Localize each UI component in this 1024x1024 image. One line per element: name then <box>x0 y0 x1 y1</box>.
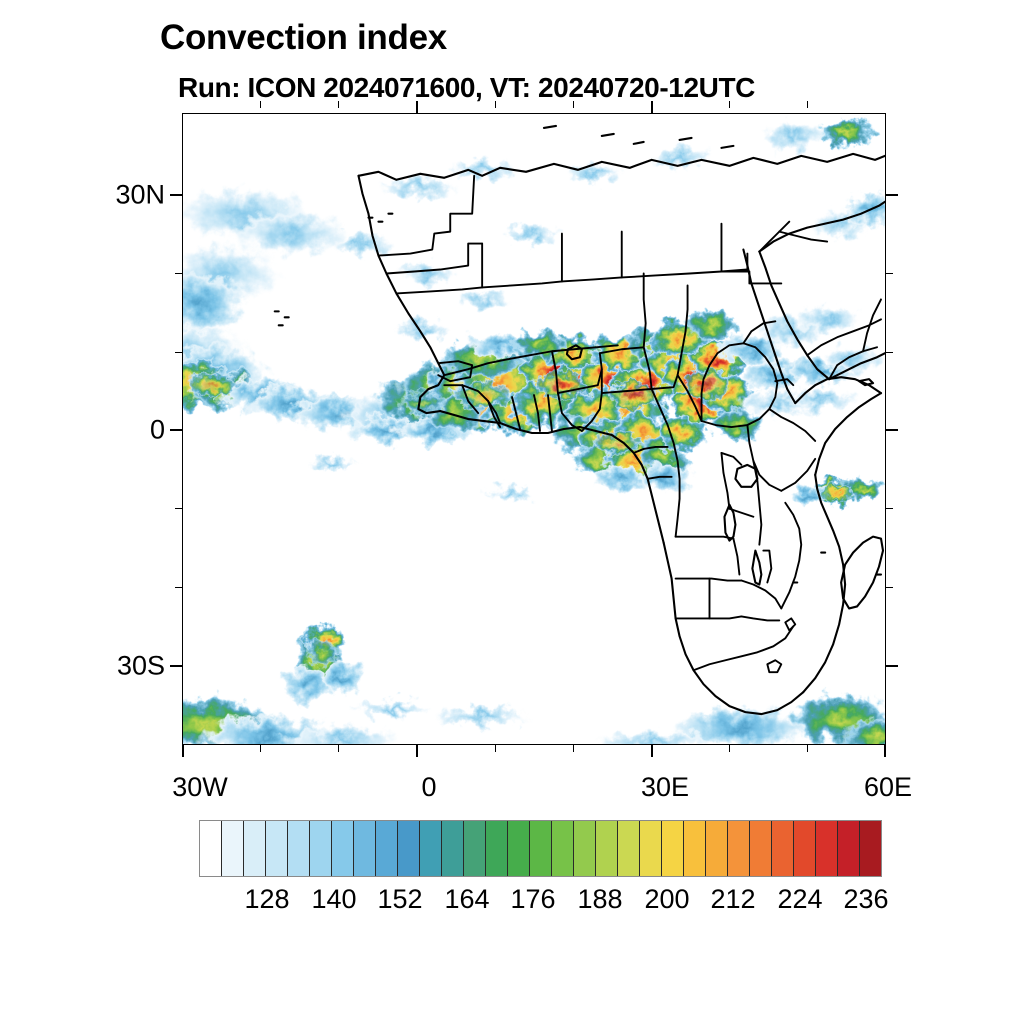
x-tick-minor-10e <box>495 745 496 752</box>
x-tick-minor-50e <box>807 745 808 752</box>
x-tick-major-0 <box>416 745 418 757</box>
colorbar-swatch <box>486 821 508 876</box>
colorbar-swatch <box>332 821 354 876</box>
x-axis-label-30e: 30E <box>641 772 689 803</box>
colorbar-swatch <box>266 821 288 876</box>
colorbar-swatch <box>288 821 310 876</box>
colorbar-label-176: 176 <box>510 884 555 915</box>
colorbar-swatch <box>794 821 816 876</box>
x-tick-minor-20w <box>260 745 261 752</box>
x-tick-major-30w <box>182 745 184 757</box>
colorbar-swatch <box>838 821 860 876</box>
colorbar-swatch <box>684 821 706 876</box>
colorbar-swatch <box>398 821 420 876</box>
x-tick-minor-40e <box>729 745 730 752</box>
x-tick-top-20w <box>260 101 261 108</box>
colorbar-swatch <box>464 821 486 876</box>
y-tick-right-10n <box>886 352 893 353</box>
y-axis-label-0: 0 <box>60 415 165 446</box>
y-tick-minor-20n <box>175 273 182 274</box>
x-axis-label-30w: 30W <box>172 772 228 803</box>
colorbar-label-212: 212 <box>710 884 755 915</box>
y-tick-minor-10n <box>175 352 182 353</box>
x-tick-top-10w <box>338 101 339 108</box>
y-tick-major-30s <box>170 665 182 667</box>
colorbar-swatch <box>662 821 684 876</box>
colorbar-swatch <box>860 821 881 876</box>
y-tick-major-0 <box>170 429 182 431</box>
colorbar[interactable] <box>199 820 882 877</box>
colorbar-swatch <box>508 821 530 876</box>
x-tick-major-60e <box>884 745 886 757</box>
y-tick-right-10s <box>886 508 893 509</box>
map-canvas <box>183 114 885 744</box>
colorbar-swatch <box>552 821 574 876</box>
colorbar-swatch <box>816 821 838 876</box>
x-tick-top-30e <box>651 101 653 113</box>
colorbar-swatch <box>530 821 552 876</box>
colorbar-swatch <box>420 821 442 876</box>
colorbar-swatch <box>728 821 750 876</box>
colorbar-label-188: 188 <box>577 884 622 915</box>
colorbar-swatch <box>200 821 222 876</box>
colorbar-swatch <box>376 821 398 876</box>
x-tick-top-40e <box>729 101 730 108</box>
y-tick-right-20n <box>886 273 893 274</box>
x-tick-top-0 <box>416 101 418 113</box>
y-tick-right-20s <box>886 587 893 588</box>
colorbar-swatch <box>640 821 662 876</box>
y-tick-right-30s <box>886 665 898 667</box>
y-axis-label-30n: 30N <box>60 180 165 211</box>
page-title: Convection index <box>160 18 447 58</box>
x-axis-label-60e: 60E <box>864 772 912 803</box>
colorbar-label-200: 200 <box>644 884 689 915</box>
y-tick-major-30n <box>170 194 182 196</box>
x-tick-top-20e <box>573 101 574 108</box>
colorbar-swatch <box>772 821 794 876</box>
y-tick-minor-20s <box>175 587 182 588</box>
colorbar-swatch <box>618 821 640 876</box>
colorbar-label-140: 140 <box>311 884 356 915</box>
x-tick-top-10e <box>495 101 496 108</box>
y-tick-minor-10s <box>175 508 182 509</box>
x-tick-major-30e <box>651 745 653 757</box>
colorbar-swatch <box>310 821 332 876</box>
colorbar-label-152: 152 <box>377 884 422 915</box>
colorbar-label-128: 128 <box>244 884 289 915</box>
colorbar-swatch <box>750 821 772 876</box>
page-subtitle: Run: ICON 2024071600, VT: 20240720-12UTC <box>178 72 755 104</box>
y-tick-right-0 <box>886 429 898 431</box>
colorbar-label-164: 164 <box>444 884 489 915</box>
colorbar-swatch <box>354 821 376 876</box>
x-tick-top-50e <box>807 101 808 108</box>
y-axis-label-30s: 30S <box>60 651 165 682</box>
map-plot-area[interactable] <box>182 113 886 745</box>
colorbar-swatch <box>596 821 618 876</box>
colorbar-swatch <box>244 821 266 876</box>
colorbar-swatch <box>574 821 596 876</box>
colorbar-swatch <box>442 821 464 876</box>
x-tick-minor-20e <box>573 745 574 752</box>
x-tick-minor-10w <box>338 745 339 752</box>
colorbar-label-236: 236 <box>843 884 888 915</box>
colorbar-label-224: 224 <box>777 884 822 915</box>
colorbar-swatch <box>222 821 244 876</box>
x-axis-label-0: 0 <box>421 772 436 803</box>
y-tick-right-30n <box>886 194 898 196</box>
colorbar-swatch <box>706 821 728 876</box>
